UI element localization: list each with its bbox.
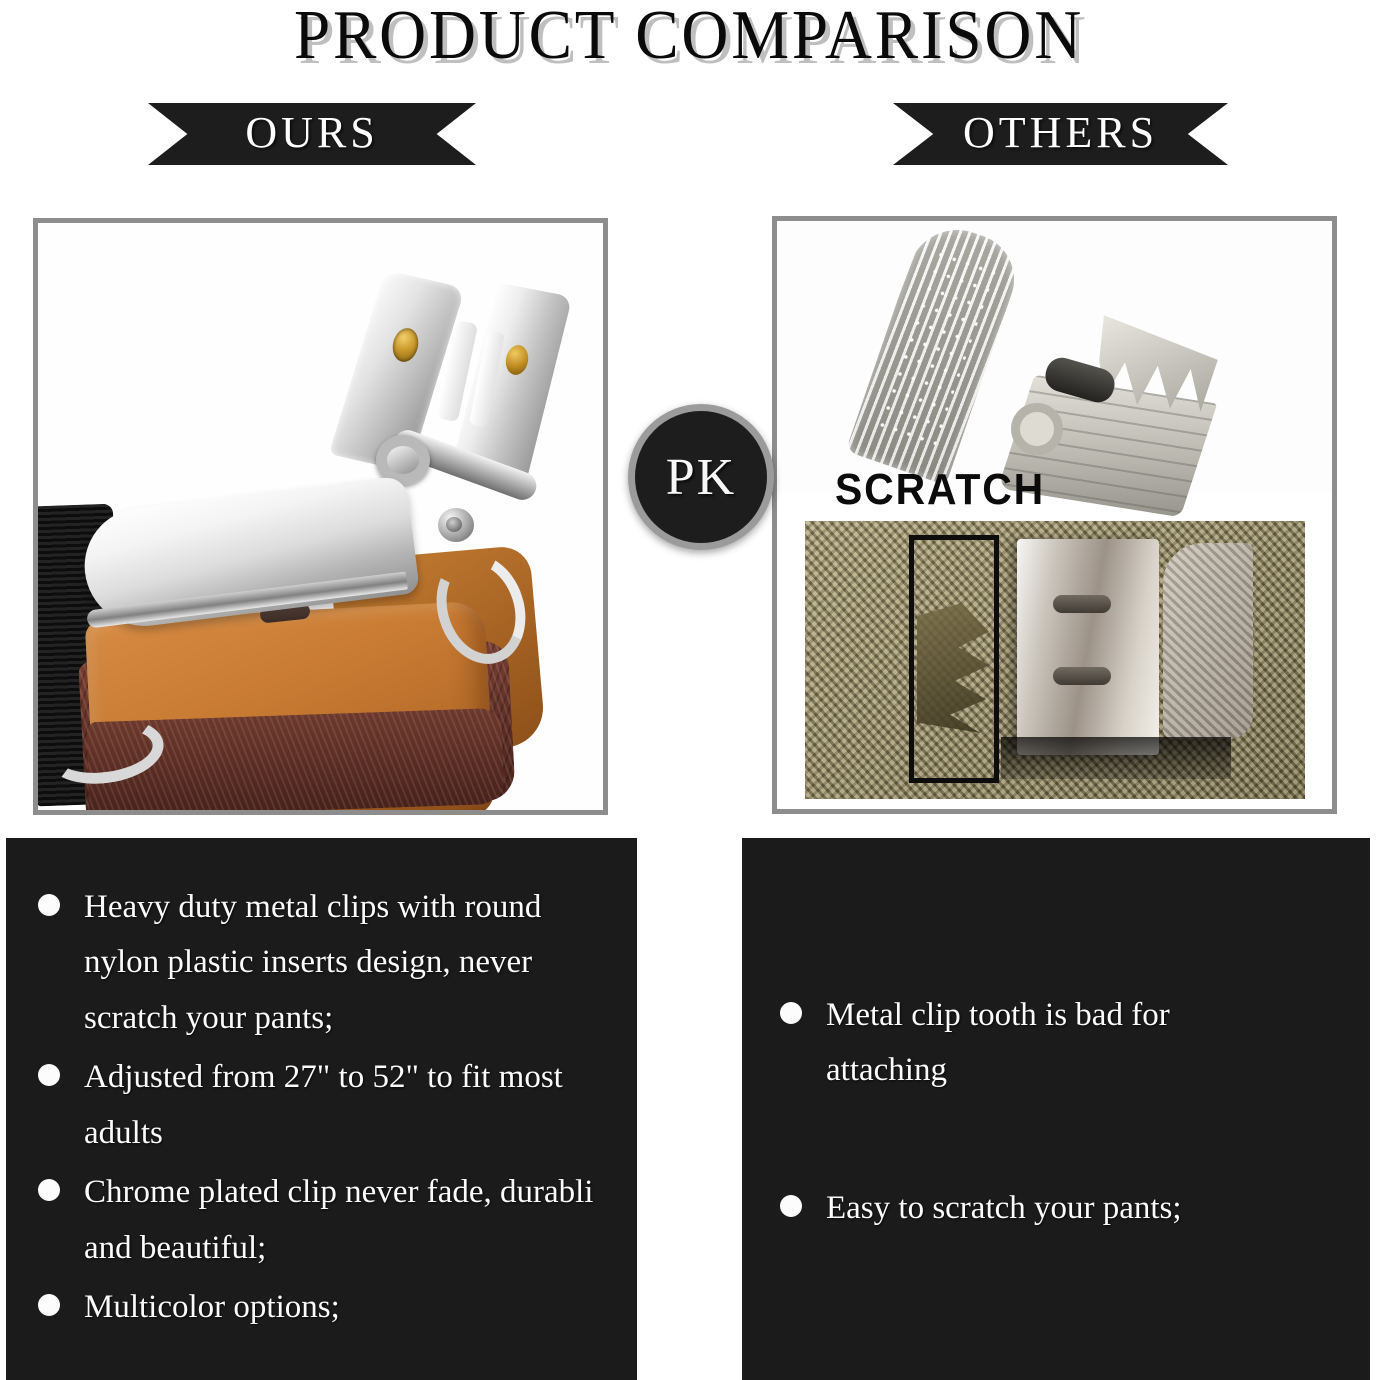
infographic-canvas: PRODUCT COMPARISON OURS OTHERS <box>0 0 1378 1380</box>
list-item: Chrome plated clip never fade, durabli a… <box>30 1165 613 1276</box>
scratched-fabric-photo <box>805 521 1305 799</box>
bullet-dot-icon <box>780 1002 802 1024</box>
clip-slot-lower <box>1053 667 1111 685</box>
clip-back-plate <box>1163 543 1253 739</box>
scratch-caption: SCRATCH <box>835 465 1045 515</box>
bullet-dot-icon <box>780 1195 802 1217</box>
metal-clip-on-fabric <box>1017 539 1159 755</box>
features-panel-ours: Heavy duty metal clips with round nylon … <box>6 838 637 1380</box>
clip-slot-upper <box>1053 595 1111 613</box>
bullet-dot-icon <box>38 1294 60 1316</box>
banner-ours: OURS <box>148 103 476 165</box>
list-item: Adjusted from 27" to 52" to fit most adu… <box>30 1050 613 1161</box>
hinge-screw <box>446 517 462 532</box>
list-item: Heavy duty metal clips with round nylon … <box>30 880 613 1046</box>
product-photo-ours <box>33 218 608 815</box>
clip-hinge-ring <box>1011 403 1063 455</box>
list-item-label: Heavy duty metal clips with round nylon … <box>84 880 613 1046</box>
banner-others: OTHERS <box>893 103 1228 165</box>
list-item: Easy to scratch your pants; <box>766 1181 1346 1236</box>
list-item-label: Metal clip tooth is bad for attaching <box>826 988 1276 1099</box>
page-title: PRODUCT COMPARISON <box>48 0 1330 76</box>
scratch-highlight-box <box>909 535 999 783</box>
bullet-dot-icon <box>38 894 60 916</box>
banner-ours-label: OURS <box>245 107 378 158</box>
ours-feature-list: Heavy duty metal clips with round nylon … <box>6 838 637 1336</box>
ours-product-illustration <box>38 223 603 810</box>
list-item-label: Chrome plated clip never fade, durabli a… <box>84 1165 613 1276</box>
list-item-label: Multicolor options; <box>84 1280 340 1335</box>
others-feature-list: Metal clip tooth is bad for attaching Ea… <box>742 838 1370 1236</box>
list-item: Multicolor options; <box>30 1280 613 1335</box>
list-item-label: Adjusted from 27" to 52" to fit most adu… <box>84 1050 613 1161</box>
features-panel-others: Metal clip tooth is bad for attaching Ea… <box>742 838 1370 1380</box>
banner-others-label: OTHERS <box>963 107 1158 158</box>
others-clip-photo <box>777 221 1332 493</box>
versus-badge: PK <box>628 404 774 550</box>
bullet-dot-icon <box>38 1064 60 1086</box>
clip-shadow <box>1001 737 1231 779</box>
product-photo-others: SCRATCH <box>772 216 1337 814</box>
list-item: Metal clip tooth is bad for attaching <box>766 988 1346 1099</box>
bullet-dot-icon <box>38 1179 60 1201</box>
others-product-illustration: SCRATCH <box>777 221 1332 809</box>
list-item-label: Easy to scratch your pants; <box>826 1181 1182 1236</box>
versus-badge-label: PK <box>666 448 736 507</box>
